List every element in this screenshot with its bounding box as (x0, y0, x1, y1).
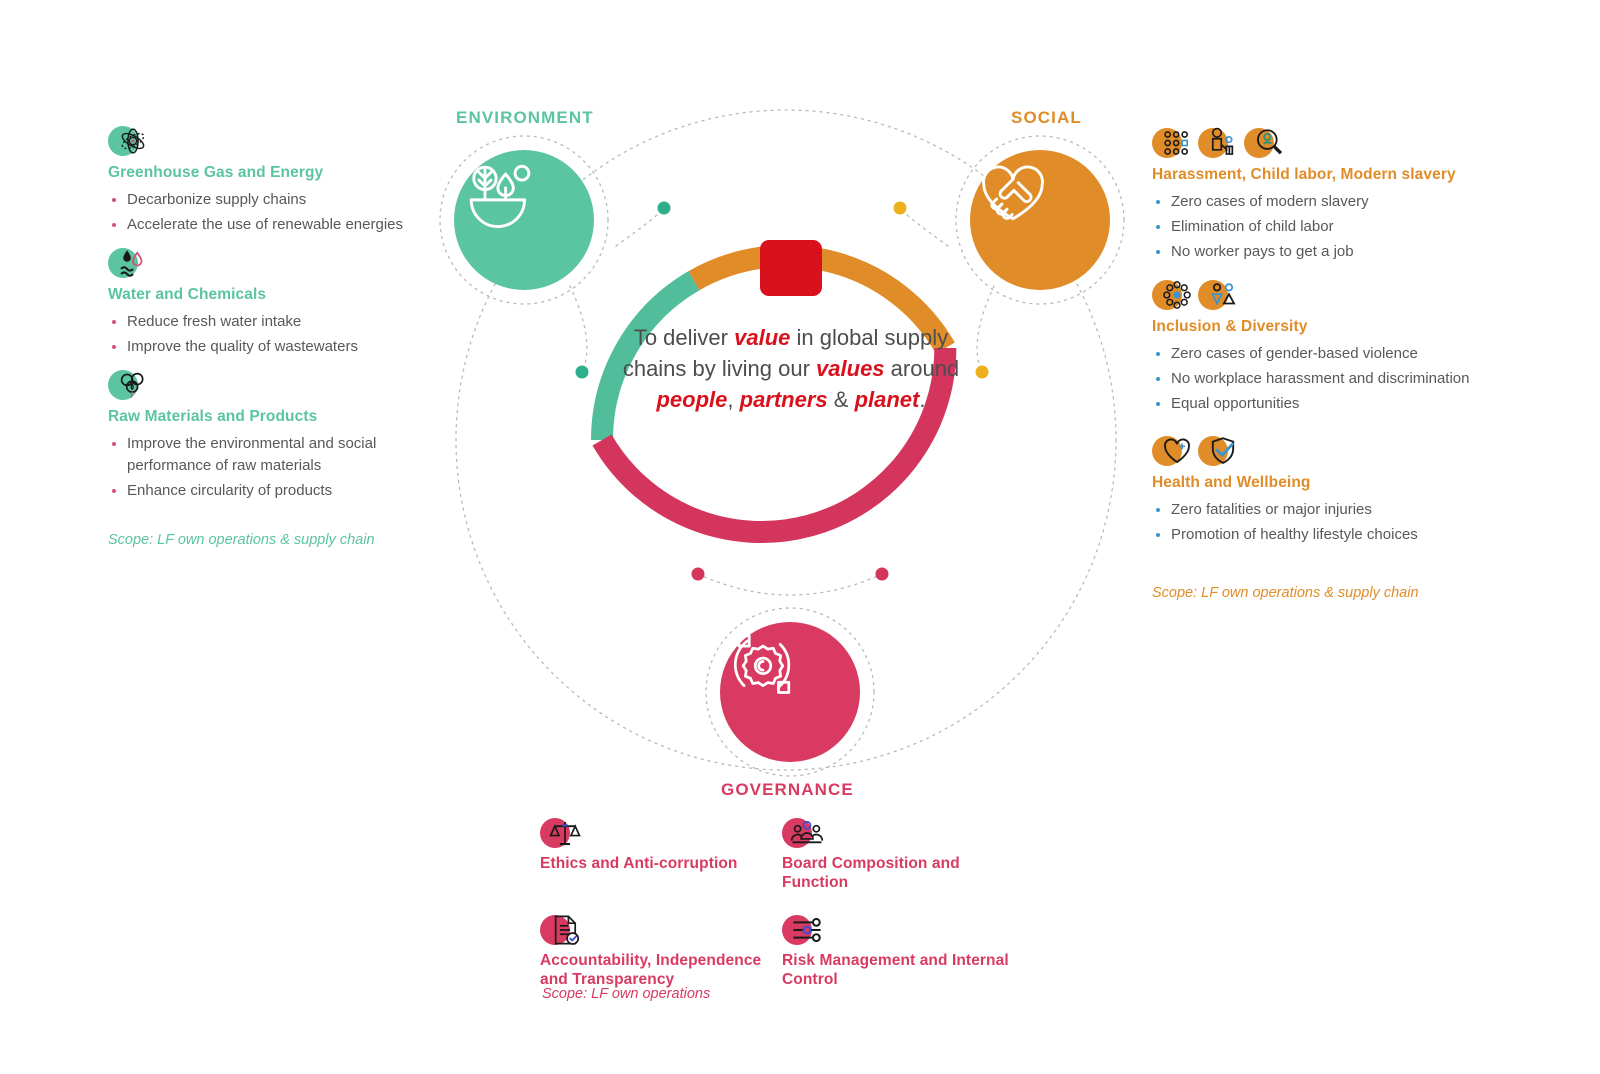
topic-icons (108, 118, 448, 158)
topic-icons (1152, 120, 1512, 160)
pillar-circle-social[interactable] (970, 150, 1110, 290)
pillar-diagram: ENVIRONMENT SOCIAL GOVERNANCE (420, 50, 1160, 840)
topic-board-composition-and-function: Board Composition and Function (782, 810, 1024, 893)
topic-title: Board Composition and Function (782, 854, 1024, 893)
topic-inclusion-and-diversity: Inclusion & Diversity Zero cases of gend… (1152, 272, 1512, 418)
topic-water-and-chemicals: Water and Chemicals Reduce fresh water i… (108, 240, 448, 361)
bullet: Enhance circularity of products (108, 480, 448, 502)
bullet: Improve the quality of wastewaters (108, 336, 448, 358)
pillar-circle-governance[interactable] (720, 622, 860, 762)
topic-bullets: Zero cases of gender-based violence No w… (1152, 343, 1512, 415)
bullet: Decarbonize supply chains (108, 189, 448, 211)
mission-statement: To deliver value in global supply chains… (616, 322, 966, 416)
bullet: Elimination of child labor (1152, 216, 1512, 238)
plant-bowl-icon (454, 150, 540, 236)
connector-dot-governance-right (876, 568, 889, 581)
esg-framework-diagram: Greenhouse Gas and Energy Decarbonize su… (0, 0, 1600, 1074)
gender-shapes-icon (1198, 274, 1242, 312)
topic-title: Greenhouse Gas and Energy (108, 163, 448, 182)
pillar-label-social: SOCIAL (1011, 108, 1082, 128)
topic-risk-management-and-internal-control: Risk Management and Internal Control (782, 907, 1024, 990)
topic-icons (782, 907, 1024, 947)
bullet: Zero cases of modern slavery (1152, 191, 1512, 213)
atom-icon (108, 120, 152, 158)
topic-title: Harassment, Child labor, Modern slavery (1152, 165, 1512, 184)
bullet: No worker pays to get a job (1152, 241, 1512, 263)
topic-accountability-independence-and-transparency: Accountability, Independence and Transpa… (540, 907, 782, 990)
scales-icon (540, 812, 584, 850)
topic-bullets: Zero cases of modern slavery Elimination… (1152, 191, 1512, 263)
topic-title: Raw Materials and Products (108, 407, 448, 426)
topic-ethics-and-anti-corruption: Ethics and Anti-corruption (540, 810, 782, 893)
governance-scope: Scope: LF own operations (542, 986, 710, 1002)
mission-block: To deliver value in global supply chains… (616, 240, 966, 416)
topic-title: Risk Management and Internal Control (782, 951, 1024, 990)
topic-bullets: Decarbonize supply chains Accelerate the… (108, 189, 448, 236)
sliders-icon (782, 909, 826, 947)
topic-title: Ethics and Anti-corruption (540, 854, 782, 873)
environment-scope: Scope: LF own operations & supply chain (108, 532, 375, 548)
pillar-label-governance: GOVERNANCE (721, 780, 854, 800)
topic-bullets: Improve the environmental and social per… (108, 433, 448, 502)
topic-icons (540, 810, 782, 850)
heart-handshake-icon (970, 150, 1056, 236)
connector-dot-social-upper (894, 202, 907, 215)
topic-raw-materials-and-products: Raw Materials and Products Improve the e… (108, 362, 448, 505)
document-check-icon (540, 909, 584, 947)
topic-icons (108, 240, 448, 280)
board-people-icon (782, 812, 826, 850)
gear-orbit-icon (720, 622, 806, 708)
bullet: Equal opportunities (1152, 393, 1512, 415)
pillar-label-environment: ENVIRONMENT (456, 108, 594, 128)
topic-icons (1152, 428, 1512, 468)
bullet: Reduce fresh water intake (108, 311, 448, 333)
cotton-boll-icon (108, 364, 152, 402)
topic-icons (782, 810, 1024, 850)
connector-dot-environment-upper (658, 202, 671, 215)
bullet: Zero fatalities or major injuries (1152, 499, 1512, 521)
topic-title: Accountability, Independence and Transpa… (540, 951, 782, 990)
topic-icons (1152, 272, 1512, 312)
topic-icons (108, 362, 448, 402)
topic-harassment-child-labor-modern-slavery: Harassment, Child labor, Modern slavery … (1152, 120, 1512, 266)
bullet: Accelerate the use of renewable energies (108, 214, 448, 236)
bullet: Zero cases of gender-based violence (1152, 343, 1512, 365)
topic-greenhouse-gas-and-energy: Greenhouse Gas and Energy Decarbonize su… (108, 118, 448, 239)
governance-column: Ethics and Anti-corruption (540, 810, 1100, 990)
topic-bullets: Zero fatalities or major injuries Promot… (1152, 499, 1512, 546)
pillar-circle-environment[interactable] (454, 150, 594, 290)
topic-icons (540, 907, 782, 947)
shield-check-icon (1198, 430, 1242, 468)
connector-dot-social-lower (976, 366, 989, 379)
worker-child-icon (1198, 122, 1242, 160)
topic-title: Inclusion & Diversity (1152, 317, 1512, 336)
bullet: Improve the environmental and social per… (108, 433, 448, 477)
water-drops-waves-icon (108, 242, 152, 280)
connector-dot-governance-left (692, 568, 705, 581)
topic-title: Health and Wellbeing (1152, 473, 1512, 492)
social-scope: Scope: LF own operations & supply chain (1152, 585, 1419, 601)
topic-title: Water and Chemicals (108, 285, 448, 304)
bullet: No workplace harassment and discriminati… (1152, 368, 1512, 390)
bullet: Promotion of healthy lifestyle choices (1152, 524, 1512, 546)
topic-bullets: Reduce fresh water intake Improve the qu… (108, 311, 448, 358)
li-and-fung-logo (760, 240, 822, 296)
magnifier-person-icon (1244, 122, 1288, 160)
connector-dot-environment-lower (576, 366, 589, 379)
topic-health-and-wellbeing: Health and Wellbeing Zero fatalities or … (1152, 428, 1512, 549)
